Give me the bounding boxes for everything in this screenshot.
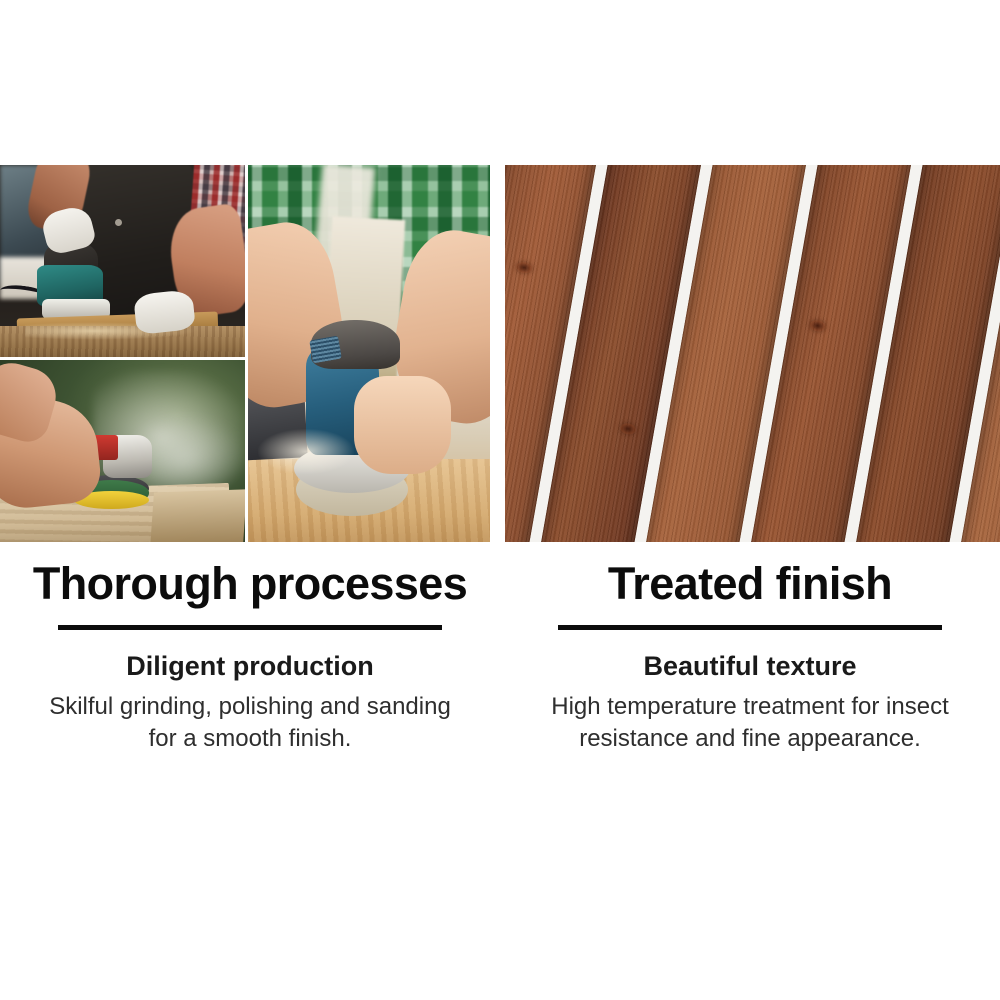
orbital-sander-workshop-photo — [0, 165, 245, 357]
left-panel-media — [0, 165, 490, 542]
treated-wood-slats-photo — [505, 165, 1000, 542]
right-panel-media — [505, 165, 1000, 542]
right-subheading: Beautiful texture — [500, 650, 1000, 682]
photo-collage — [0, 165, 490, 542]
angle-grinder-polishing-photo — [0, 360, 245, 542]
blue-random-orbital-sander-scene — [248, 165, 490, 542]
left-subheading: Diligent production — [0, 650, 500, 682]
left-body-text: Skilful grinding, polishing and sanding … — [40, 691, 460, 754]
product-feature-page: Thorough processes Diligent production S… — [0, 0, 1000, 1000]
page-title-treated-finish: Treated finish — [500, 560, 1000, 609]
page-title-thorough-processes: Thorough processes — [0, 560, 500, 609]
media-band — [0, 165, 1000, 542]
orbital-sander-workshop-scene — [0, 165, 245, 357]
left-panel-copy: Thorough processes Diligent production S… — [0, 560, 500, 754]
right-body-text: High temperature treatment for insect re… — [540, 691, 960, 754]
angle-grinder-polishing-scene — [0, 360, 245, 542]
right-divider-rule — [558, 625, 942, 630]
left-divider-rule — [58, 625, 442, 630]
blue-random-orbital-sander-photo — [248, 165, 490, 542]
right-panel-copy: Treated finish Beautiful texture High te… — [500, 560, 1000, 754]
